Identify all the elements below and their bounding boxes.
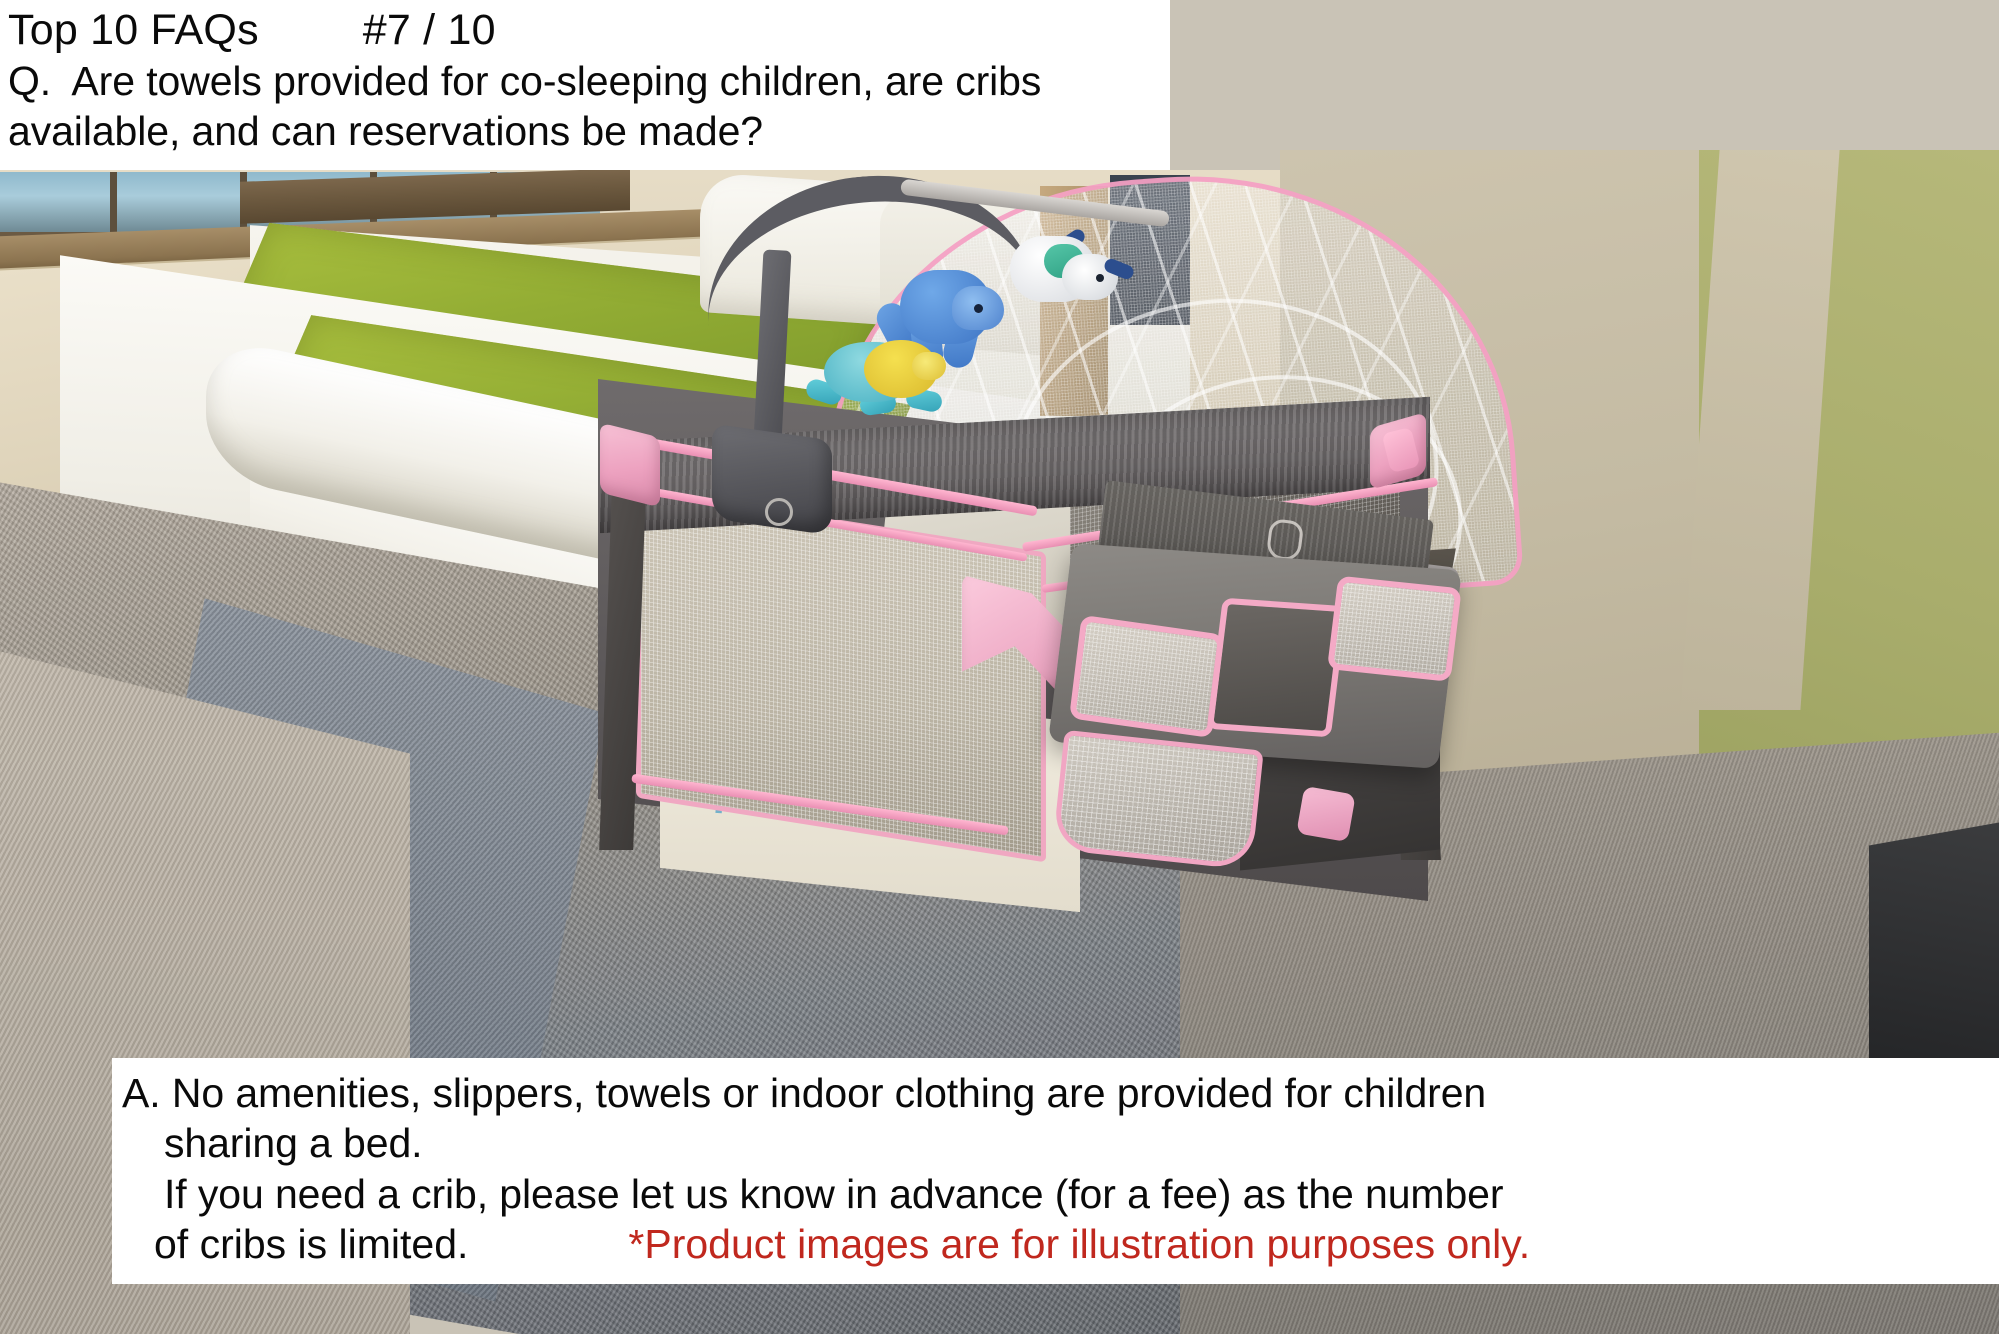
organizer-mesh-pocket: [1069, 615, 1224, 738]
faq-item-counter: #7 / 10: [363, 4, 496, 56]
answer-line-1: A. No amenities, slippers, towels or ind…: [112, 1068, 1999, 1118]
turtle-plush-toy-icon: [806, 338, 956, 422]
crib-wheel: [1296, 786, 1356, 842]
question-prefix: Q.: [8, 58, 51, 104]
faq-series-title: Top 10 FAQs: [8, 4, 259, 56]
faq-slide: bab: [0, 0, 1999, 1334]
organizer-fabric-pocket: [1207, 598, 1347, 738]
answer-caption-box: A. No amenities, slippers, towels or ind…: [112, 1058, 1999, 1284]
organizer-mesh-pocket: [1327, 576, 1462, 682]
illustration-disclaimer: *Product images are for illustration pur…: [628, 1219, 1530, 1269]
faq-header-row: Top 10 FAQs #7 / 10: [0, 4, 1170, 56]
answer-last-row: of cribs is limited. *Product images are…: [112, 1219, 1999, 1269]
question-caption-box: Top 10 FAQs #7 / 10 Q. Are towels provid…: [0, 0, 1170, 170]
white-plush-toy-icon: [1000, 222, 1140, 334]
question-line-1: Q. Are towels provided for co-sleeping c…: [0, 56, 1170, 106]
answer-line-4: of cribs is limited.: [154, 1219, 468, 1269]
brand-logo-icon: [765, 498, 793, 526]
question-text-1: Are towels provided for co-sleeping chil…: [71, 58, 1041, 104]
crib-corner-bracket: [600, 423, 660, 508]
organizer-net-basket: [1052, 730, 1263, 870]
answer-line-3: If you need a crib, please let us know i…: [112, 1169, 1999, 1219]
question-line-2: available, and can reservations be made?: [0, 106, 1170, 156]
answer-line-2: sharing a bed.: [112, 1118, 1999, 1168]
